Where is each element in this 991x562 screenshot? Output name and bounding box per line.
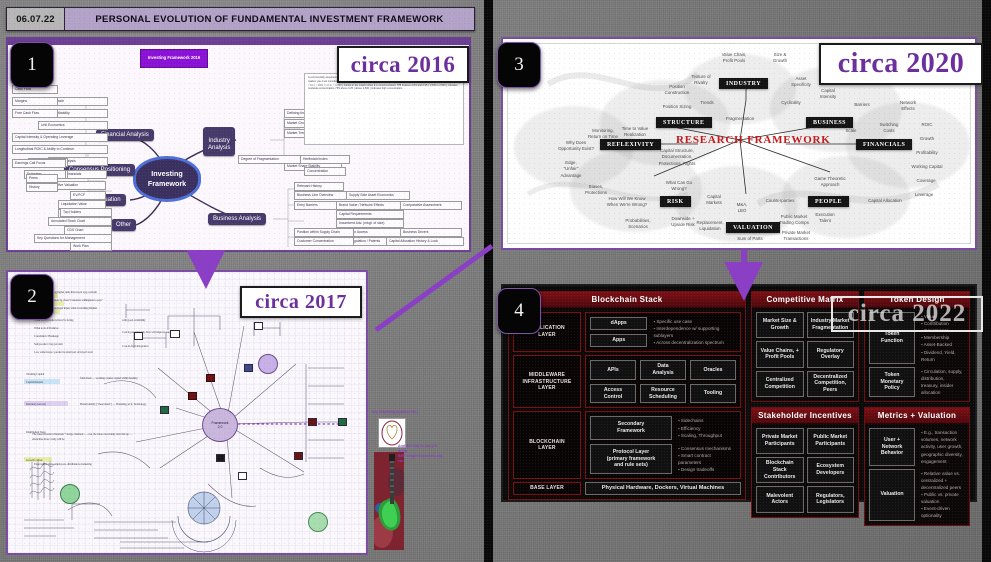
cell-value-chains-profit-pools[interactable]: Value Chains, + Profit Pools [756, 341, 804, 367]
hhi-note-block: A commercially accepted measure of capit… [304, 73, 464, 145]
section-stakeholder-incentives[interactable]: Stakeholder Incentives Private Market Pa… [751, 407, 859, 518]
leaf-degree-fragmentation: Degree of Fragmentation [238, 155, 302, 164]
leaf-business-9: Position within Supply Chain [294, 228, 354, 237]
section-title-metrics-valuation: Metrics + Valuation [865, 408, 969, 424]
leaf-business-4: Brand Value / Network Effects [336, 201, 404, 210]
rf-node-people-label: PEOPLE [815, 199, 842, 205]
leaf-business-13: Capital Allocation History & Look [386, 237, 464, 246]
bullet-bc-3: Consensus mechanisms [678, 445, 734, 452]
rf-label-business-3: Barriers [844, 102, 880, 108]
rf-node-risk-label: RISK [667, 199, 684, 205]
cell-centralized-competition[interactable]: Centralized Competition [756, 371, 804, 397]
cell-regulators-legislators[interactable]: Regulators, Legislators [807, 486, 855, 512]
vertical-divider-left [484, 0, 493, 562]
rf-node-financials[interactable]: FINANCIALS [856, 139, 912, 150]
bullet-bc-4: Smart contract parameters [678, 452, 734, 466]
bullet-un-0: E.g., transaction volumes, network activ… [921, 429, 963, 465]
sketch-node-green-a [160, 406, 169, 414]
circa-label-2016: circa 2016 [337, 46, 469, 83]
rf-label-industry-6: Fragmentation [712, 116, 768, 122]
sketch-node-red-c [294, 452, 303, 460]
leaf-valuation-3: EV/FCF [70, 191, 106, 200]
circa-label-2017-text: circa 2017 [255, 291, 347, 314]
bullet-v-0: Relative value vs. centralized + decentr… [921, 470, 963, 491]
sketch-bullet-7: Cost-in-from integration [122, 344, 194, 349]
rf-node-valuation-label: VALUATION [733, 225, 773, 231]
leaf-other-0: Top Holders [60, 208, 112, 217]
leaf-business-12: Business Drivers [400, 228, 462, 237]
bullet-v-1: Public vs. private valuation [921, 491, 963, 505]
rf-label-people-0: Game Theoretic Approach [800, 176, 860, 189]
rf-node-business-label: BUSINESS [813, 120, 846, 126]
bullet-bc-5: Design tradeoffs [678, 466, 734, 473]
wallpaper-background: 06.07.22 PERSONAL EVOLUTION OF FUNDAMENT… [0, 0, 991, 562]
cell-oracles[interactable]: Oracles [690, 360, 736, 380]
cell-token-monetary-policy[interactable]: Token Monetary Policy [869, 367, 915, 397]
title-bar: 06.07.22 PERSONAL EVOLUTION OF FUNDAMENT… [6, 7, 475, 31]
mindmap-node-label: Business Analysis [213, 216, 261, 222]
panel-badge-1-label: 1 [27, 54, 37, 76]
panel-badge-3-label: 3 [514, 54, 524, 76]
cell-market-size-growth[interactable]: Market Size & Growth [756, 312, 804, 338]
leaf-business-10: Customer Concentration [294, 237, 354, 246]
sketch-node-plain-b [170, 330, 180, 338]
sketch-node-dark-a [216, 454, 225, 462]
thumbnail-sketch-svg [379, 419, 405, 447]
row-blockchain-layer: BLOCKCHAIN LAYER Secondary Framework Sid… [513, 411, 741, 479]
leaf-business-5: Capital Requirements [336, 210, 404, 219]
circa-label-2020: circa 2020 [819, 43, 983, 85]
section-blockchain-stack[interactable]: Blockchain Stack APPLICATION LAYER dApps… [508, 291, 746, 500]
sketch-core-node: Framework 2.0 [202, 408, 238, 442]
mindmap-core-label: Investing Framework [148, 169, 186, 188]
sketch-circle-green-2 [308, 512, 328, 532]
cell-user-network-behavior[interactable]: User + Network Behavior [869, 428, 915, 466]
rf-node-structure-label: STRUCTURE [663, 120, 705, 126]
rf-label-business-6: Scale [838, 128, 864, 134]
body-metrics-valuation: User + Network Behavior E.g., transactio… [865, 424, 969, 524]
rf-node-business[interactable]: BUSINESS [806, 117, 853, 128]
bullet-v-2: Event-driven optionality [921, 505, 963, 519]
layer-label-middleware: MIDDLEWARE INFRASTRUCTURE LAYER [513, 355, 581, 408]
sketch-node-red-d [308, 418, 317, 426]
leaf-financial-1: Profitability [50, 109, 108, 118]
cell-tooling[interactable]: Tooling [690, 384, 736, 404]
bullet-app-0: Specific use case [653, 318, 734, 325]
bullets-application: Specific use case Interdependence w/ sup… [651, 317, 736, 347]
bullet-tf-4: Asset-Backed [921, 341, 963, 348]
sketch-node-plain-d [254, 322, 263, 330]
rf-label-valuation-2: Private Market Transactions [770, 230, 822, 243]
cell-physical-hardware[interactable]: Physical Hardware, Dockers, Virtual Mach… [585, 482, 741, 495]
rf-label-reflexivity-3: Edge, "Unfair" Advantage [552, 160, 590, 179]
cell-valuation-metric[interactable]: Valuation [869, 469, 915, 521]
leaf-concentration: Concentration [304, 167, 346, 176]
rf-label-people-1: Counterparties [754, 198, 806, 204]
rf-label-reflexivity-4: Biases, Protections [578, 184, 614, 197]
cell-malevolent-actors[interactable]: Malevolent Actors [756, 486, 804, 512]
rf-label-valuation-0: M&A, LBO [726, 202, 758, 215]
rf-label-people-2: Capital Allocation [856, 198, 914, 204]
circa-label-2022-text: circa 2022 [848, 300, 967, 328]
page-title: PERSONAL EVOLUTION OF FUNDAMENTAL INVEST… [65, 8, 474, 30]
panel-badge-2-label: 2 [27, 286, 37, 308]
leaf-business-11: Comparative Assessment [400, 201, 462, 210]
leaf-financial-6: Financials [63, 170, 107, 179]
rf-label-industry-5: Cyclicality [770, 100, 812, 106]
guitar-photo-svg [374, 452, 404, 550]
sketch-label-1: Capital Returns [26, 380, 78, 385]
bullet-tf-3: Membership [921, 334, 963, 341]
vertical-divider-right [982, 0, 991, 562]
mindmap-node-label: Other [116, 222, 131, 228]
mindmap-node-business-analysis[interactable]: Business Analysis [208, 213, 266, 225]
leaf-consensus-0: Earnings Call Focus [12, 159, 66, 168]
cell-apps[interactable]: Apps [590, 334, 647, 347]
title-date: 06.07.22 [7, 8, 65, 30]
rf-label-business-2: Capital Intensity [808, 88, 848, 101]
panel-badge-1: 1 [10, 42, 54, 88]
boxgroup-middleware: APIs Data Analysis Oracles Access Contro… [585, 355, 741, 408]
panel-badge-3: 3 [497, 42, 541, 88]
right-annotation-text: And the way to use (I'll bring BEP Singl… [398, 444, 444, 464]
bullets-secondary: Sidechains Efficiency Scaling, Throughpu… [676, 416, 736, 439]
mindmap-node-industry-analysis[interactable]: Industry Analysis [203, 127, 235, 156]
rf-node-industry: INDUSTRY [719, 78, 768, 89]
leaf-other-4: Work Plan [70, 242, 112, 251]
leaf-business-0: Relevant History [294, 182, 344, 191]
sketch-node-blue-a [244, 364, 253, 372]
rf-label-structure-1: Position Sizing [654, 104, 700, 110]
sketch-bullet-1: What to do if I believe [34, 326, 112, 331]
rf-label-financials-2: Profitability [904, 150, 950, 156]
rf-node-reflexivity-label: REFLEXIVITY [607, 142, 654, 148]
cell-access-control[interactable]: Access Control [590, 384, 636, 404]
sketch-label-0: Working Capital [26, 372, 78, 377]
cell-secondary-framework[interactable]: Secondary Framework [590, 416, 672, 439]
rf-node-people[interactable]: PEOPLE [808, 196, 849, 207]
rf-label-reflexivity-2: Why Does Opportunity Exist? [546, 140, 606, 153]
mindmap-node-other[interactable]: Other [111, 219, 136, 231]
sketch-bullet-4: Low added steps / product is small part … [34, 350, 118, 355]
boxgroup-blockchain: Secondary Framework Sidechains Efficienc… [585, 411, 741, 479]
panel1-top-bar [8, 39, 469, 45]
sketch-note-3: Expectation tools, employees, distributi… [34, 462, 130, 467]
section-metrics-valuation[interactable]: Metrics + Valuation User + Network Behav… [864, 407, 970, 525]
circa-label-2020-text: circa 2020 [838, 48, 965, 80]
layer-label-blockchain: BLOCKCHAIN LAYER [513, 411, 581, 479]
rf-label-business-5: Switching Costs [870, 122, 908, 135]
grid-stakeholder-incentives: Private Market Participants Public Marke… [752, 424, 858, 517]
rf-label-business-4: Network Effects [888, 100, 928, 113]
mindmap-core-node: Investing Framework [133, 156, 201, 202]
panel-badge-2: 2 [10, 274, 54, 320]
sketch-node-green-b [338, 418, 347, 426]
sketch-note-1: Brand identity ("moat share") — Branding… [80, 402, 172, 407]
cell-private-market-participants[interactable]: Private Market Participants [756, 428, 804, 454]
research-framework-title: RESEARCH FRAMEWORK [676, 134, 831, 146]
rf-label-structure-0: Position Construction [654, 84, 700, 97]
cell-public-market-participants[interactable]: Public Market Participants [807, 428, 855, 454]
bullets-protocol: Consensus mechanisms Smart contract para… [676, 444, 736, 474]
rf-label-risk-3: Downside + Upside Risk [660, 216, 706, 229]
cell-apis[interactable]: APIs [590, 360, 636, 380]
cell-dapps[interactable]: dApps [590, 317, 647, 330]
row-base-layer: BASE LAYER Physical Hardware, Dockers, V… [513, 482, 741, 495]
column-blockchain-stack: Blockchain Stack APPLICATION LAYER dApps… [508, 291, 746, 495]
sketch-circle-green [60, 484, 80, 504]
rf-label-industry-1: Size & Growth [758, 52, 802, 65]
cell-protocol-layer[interactable]: Protocol Layer (primary framework and ru… [590, 444, 672, 474]
sketch-node-plain-c [134, 332, 143, 340]
cell-ecosystem-developers[interactable]: Ecosystem Developers [807, 457, 855, 483]
leaf-herfindahl: Herfindahl Index [300, 155, 350, 164]
leaf-financial-3: Capital Intensity & Operating Leverage [12, 133, 108, 142]
sketch-node-red-a [206, 374, 215, 382]
bullet-app-2: Across decentralization spectrum [653, 339, 734, 346]
rf-label-valuation-4: Sum of Parts [726, 236, 774, 242]
cell-resource-scheduling[interactable]: Resource Scheduling [640, 384, 686, 404]
row-token-monetary-policy: Token Monetary Policy Circulation, suppl… [869, 367, 965, 397]
section-body-blockchain-stack: APPLICATION LAYER dApps Apps Specific us… [509, 308, 745, 499]
row-valuation: Valuation Relative value vs. centralized… [869, 469, 965, 521]
rf-label-risk-1: How Will We Know When We're Wrong? [596, 196, 658, 209]
sketch-note-0: fund mark — working capital, capital wit… [80, 376, 166, 381]
row-application-layer: APPLICATION LAYER dApps Apps Specific us… [513, 312, 741, 352]
rf-label-reflexivity-1: Time to Value Realization [612, 126, 658, 139]
leaf-business-6: Incumbent Adv. (mkgt. of size) [336, 219, 404, 228]
rf-node-structure[interactable]: STRUCTURE [656, 117, 712, 128]
section-title-stakeholder-incentives: Stakeholder Incentives [752, 408, 858, 424]
leaf-business-1: Business Line Overview [294, 191, 350, 200]
sketch-bullet-2: Correlation / Breakage [34, 334, 112, 339]
sketch-label-2: Inventory (across) [26, 402, 84, 407]
cell-data-analysis[interactable]: Data Analysis [640, 360, 686, 380]
bullet-bc-1: Efficiency [678, 425, 734, 432]
rf-label-valuation-1: Public Market Trading Comps [770, 214, 818, 227]
leaf-business-3: Entry Barriers [294, 201, 338, 210]
rf-label-risk-0: What Can Go Wrong? [654, 180, 704, 193]
cell-regulatory-overlay[interactable]: Regulatory Overlay [807, 341, 855, 367]
circa-label-2016-text: circa 2016 [351, 52, 456, 78]
leaf-business-2: Supply Side Asset Economics [346, 191, 410, 200]
rf-label-financials-3: Working Capital [898, 164, 956, 170]
leaf-fin-side-1: Free Cash Flow [12, 109, 58, 118]
mindmap-node-label: Financial Analysis [101, 132, 149, 138]
thumbnail-annotation: key modeling (symbol etc.) [372, 410, 428, 415]
rf-label-risk-2: Probabilities, Scenarios [616, 218, 660, 231]
row-user-network-behavior: User + Network Behavior E.g., transactio… [869, 428, 965, 466]
bullets-token-monetary: Circulation, supply, distribution, treas… [919, 367, 965, 397]
rf-label-industry-3: Asset Specificity [780, 76, 822, 89]
sketch-node-plain-a [238, 472, 247, 480]
sketch-bullet-3: Self-product / buy per unit [34, 342, 112, 347]
mindmap-node-label: Industry Analysis [208, 138, 230, 152]
row-middleware-layer: MIDDLEWARE INFRASTRUCTURE LAYER APIs Dat… [513, 355, 741, 408]
bullets-user-network: E.g., transaction volumes, network activ… [919, 428, 965, 466]
leaf-financial-4: Longitudinal ROIC & Ability to Continue [12, 145, 108, 154]
rf-node-industry-label: INDUSTRY [726, 81, 761, 87]
bullet-tf-5: Dividend, Yield, Return [921, 349, 963, 363]
rf-label-financials-0: ROIC [910, 122, 944, 128]
sketch-bullet-5: with good availability [122, 318, 194, 323]
panel-badge-4: 4 [497, 288, 541, 334]
mindmap-header: Investing Framework 2016 [140, 49, 208, 68]
leaf-valuation-1: Peers [26, 174, 58, 183]
section-title-blockchain-stack: Blockchain Stack [509, 292, 745, 308]
rf-label-structure-2: Capital Structure, Documentation, Protec… [648, 148, 706, 167]
leaf-financial-2: Unit Economics [38, 121, 108, 130]
cell-decentralized-competition[interactable]: Decentralized Competition, Peers [807, 371, 855, 397]
bullet-tm-0: Circulation, supply, distribution, treas… [921, 368, 963, 396]
sketch-core-label: Framework 2.0 [212, 421, 229, 429]
circa-label-2022: circa 2022 [831, 296, 983, 332]
leaf-fin-side-2: Margins [12, 97, 58, 106]
rf-label-risk-4: Capital Markets [698, 194, 730, 207]
sketch-note-2: The more invested wholesale + hedge chan… [32, 432, 136, 442]
panel-badge-4-label: 4 [514, 300, 524, 322]
bullets-valuation: Relative value vs. centralized + decentr… [919, 469, 965, 521]
leaf-valuation-2: History [26, 183, 58, 192]
rf-label-industry-0: Value Chain, Profit Pools [706, 52, 762, 65]
guitar-photo[interactable] [374, 452, 404, 550]
cell-blockchain-stack-contributors[interactable]: Blockchain Stack Contributors [756, 457, 804, 483]
leaf-financial-0: Growth [50, 97, 108, 106]
bullet-app-1: Interdependence w/ supporting sublayers [653, 325, 734, 339]
sketch-circle-purple [258, 354, 278, 374]
rf-node-risk[interactable]: RISK [660, 196, 691, 207]
rf-node-financials-label: FINANCIALS [863, 142, 905, 148]
rf-label-financials-4: Coverage [906, 178, 946, 184]
sketch-node-red-b [188, 392, 197, 400]
layer-label-base: BASE LAYER [513, 482, 581, 495]
bullet-bc-2: Scaling, Throughput [678, 432, 734, 439]
boxgroup-application: dApps Apps Specific use case Interdepend… [585, 312, 741, 352]
bullet-bc-0: Sidechains [678, 417, 734, 424]
circa-label-2017: circa 2017 [240, 286, 362, 318]
rf-label-financials-1: Growth [910, 136, 944, 142]
leaf-other-1: Annotated Stock Chart [48, 217, 112, 226]
